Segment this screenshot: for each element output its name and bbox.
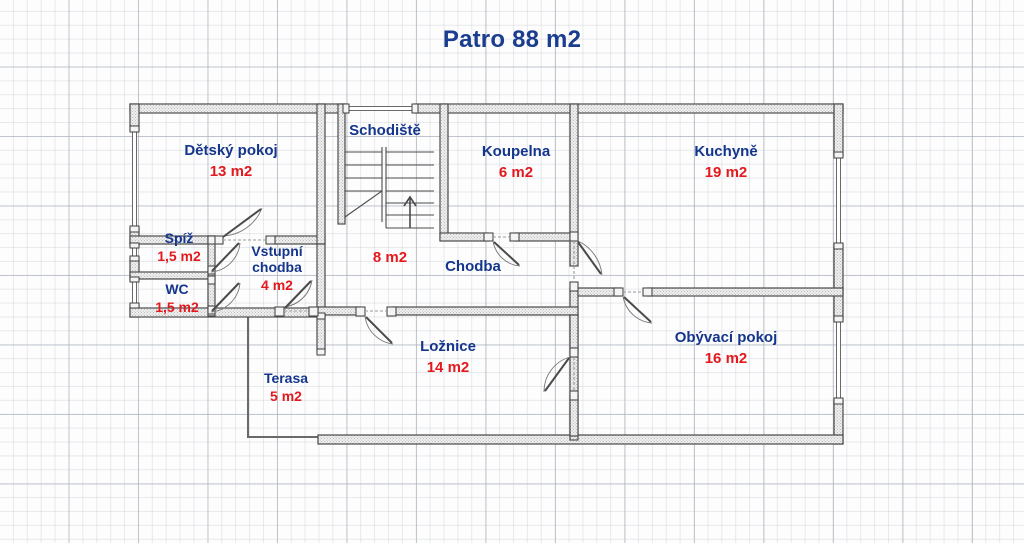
window-left-upper xyxy=(130,126,139,232)
window-top-staircase xyxy=(343,104,418,113)
wall-interior-bath-left xyxy=(440,104,448,240)
door-koupelna xyxy=(484,233,520,266)
wall-interior-bath-bottom-a xyxy=(440,233,488,241)
door-group xyxy=(208,208,652,400)
wall-interior-bedroom-top-b xyxy=(392,307,578,315)
wall-group xyxy=(130,104,843,444)
wall-interior-stair-left xyxy=(338,104,345,224)
wall-interior-bedroom-right-b xyxy=(570,396,578,436)
wall-interior-bath-bottom-b xyxy=(515,233,577,241)
window-left-wc xyxy=(130,277,139,308)
wall-interior-entry-right xyxy=(317,104,325,244)
window-left-lower xyxy=(130,243,139,261)
door-vstupni-chodba xyxy=(275,280,318,316)
window-right-kitchen xyxy=(834,152,843,249)
door-detsky-pokoj xyxy=(214,208,275,244)
window-right-living xyxy=(834,316,843,404)
wall-interior-spiz-wc xyxy=(130,272,214,279)
wall-interior-detsky-bottom-a xyxy=(130,236,214,244)
terrace-outline xyxy=(248,311,318,437)
floor-plan-canvas: Patro 88 m2 Dětský pokoj 13 m2 Spíž 1,5 … xyxy=(0,0,1024,543)
wall-exterior-right-a xyxy=(834,104,843,156)
up-arrow-icon xyxy=(404,197,416,228)
wall-interior-kitchen-left-a xyxy=(570,104,578,234)
door-obyvaci-pokoj xyxy=(614,288,652,323)
door-loznice xyxy=(356,307,396,344)
wall-exterior-right-b xyxy=(834,245,843,320)
wall-exterior-top-right xyxy=(415,104,843,113)
floor-plan-drawing xyxy=(0,0,1024,543)
wall-exterior-bottom xyxy=(318,435,843,444)
wall-interior-bedroom-right-a xyxy=(570,315,578,353)
wall-exterior-top-left xyxy=(130,104,347,113)
staircase xyxy=(345,147,434,228)
wall-interior-entry-right2 xyxy=(317,244,325,316)
page-title: Patro 88 m2 xyxy=(0,26,1024,54)
wall-exterior-bottom-left xyxy=(130,308,318,317)
wall-interior-kitchen-bottom-b xyxy=(648,288,843,296)
wall-terrace-stub xyxy=(317,316,325,352)
